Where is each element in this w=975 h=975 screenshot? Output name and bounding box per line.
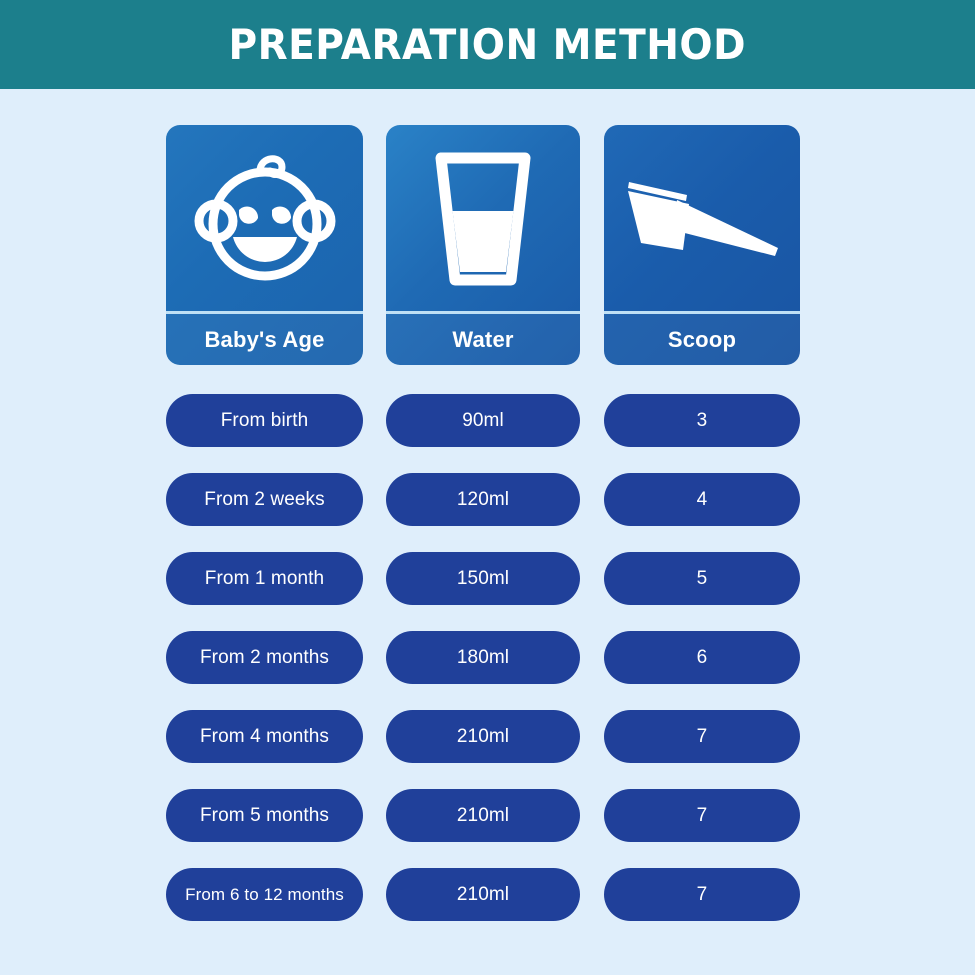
preparation-table: From birth 90ml 3 From 2 weeks 120ml 4 F… — [0, 394, 975, 947]
cell-scoop-text: 4 — [697, 489, 708, 511]
column-label-strip-water: Water — [386, 314, 580, 365]
table-row: From 4 months 210ml 7 — [0, 710, 975, 789]
page-title: PREPARATION METHOD — [229, 20, 746, 69]
column-card-scoop: Scoop — [604, 125, 800, 365]
cell-scoop-text: 7 — [697, 805, 708, 827]
cell-water-text: 120ml — [457, 489, 509, 511]
cell-scoop-text: 7 — [697, 726, 708, 748]
cell-age: From 6 to 12 months — [166, 868, 363, 921]
cell-age: From 2 weeks — [166, 473, 363, 526]
cell-age-text: From 2 weeks — [204, 489, 325, 511]
table-row: From 6 to 12 months 210ml 7 — [0, 868, 975, 947]
cell-age-text: From birth — [221, 410, 309, 432]
cell-scoop-text: 7 — [697, 884, 708, 906]
table-row: From 2 weeks 120ml 4 — [0, 473, 975, 552]
cell-scoop: 5 — [604, 552, 800, 605]
cell-age: From birth — [166, 394, 363, 447]
cell-water-text: 90ml — [462, 410, 504, 432]
cell-scoop-text: 6 — [697, 647, 708, 669]
column-card-baby-age: Baby's Age — [166, 125, 363, 365]
water-glass-icon — [386, 125, 580, 311]
cell-age-text: From 2 months — [200, 647, 329, 669]
cell-age-text: From 4 months — [200, 726, 329, 748]
cell-scoop: 7 — [604, 789, 800, 842]
cell-water-text: 210ml — [457, 726, 509, 748]
cell-scoop: 3 — [604, 394, 800, 447]
baby-face-icon — [166, 125, 363, 311]
cell-scoop: 4 — [604, 473, 800, 526]
cell-water-text: 180ml — [457, 647, 509, 669]
cell-age-text: From 6 to 12 months — [185, 885, 344, 905]
cell-scoop-text: 3 — [697, 410, 708, 432]
column-label-strip-scoop: Scoop — [604, 314, 800, 365]
column-label-baby-age: Baby's Age — [204, 327, 324, 353]
cell-age: From 2 months — [166, 631, 363, 684]
column-header-cards: Baby's Age Water — [0, 125, 975, 365]
column-label-water: Water — [452, 327, 513, 353]
table-row: From 2 months 180ml 6 — [0, 631, 975, 710]
column-label-strip-baby-age: Baby's Age — [166, 314, 363, 365]
cell-water-text: 210ml — [457, 884, 509, 906]
cell-water: 210ml — [386, 789, 580, 842]
cell-water: 150ml — [386, 552, 580, 605]
cell-water-text: 150ml — [457, 568, 509, 590]
table-row: From birth 90ml 3 — [0, 394, 975, 473]
cell-age: From 4 months — [166, 710, 363, 763]
cell-water-text: 210ml — [457, 805, 509, 827]
cell-water: 210ml — [386, 868, 580, 921]
cell-age: From 1 month — [166, 552, 363, 605]
cell-scoop: 6 — [604, 631, 800, 684]
cell-age: From 5 months — [166, 789, 363, 842]
table-row: From 1 month 150ml 5 — [0, 552, 975, 631]
column-card-water: Water — [386, 125, 580, 365]
cell-scoop: 7 — [604, 710, 800, 763]
header-band: PREPARATION METHOD — [0, 0, 975, 89]
table-row: From 5 months 210ml 7 — [0, 789, 975, 868]
cell-water: 210ml — [386, 710, 580, 763]
cell-water: 180ml — [386, 631, 580, 684]
column-label-scoop: Scoop — [668, 327, 736, 353]
cell-water: 90ml — [386, 394, 580, 447]
cell-scoop: 7 — [604, 868, 800, 921]
cell-age-text: From 5 months — [200, 805, 329, 827]
measuring-scoop-icon — [604, 125, 800, 311]
cell-age-text: From 1 month — [205, 568, 324, 590]
cell-scoop-text: 5 — [697, 568, 708, 590]
cell-water: 120ml — [386, 473, 580, 526]
